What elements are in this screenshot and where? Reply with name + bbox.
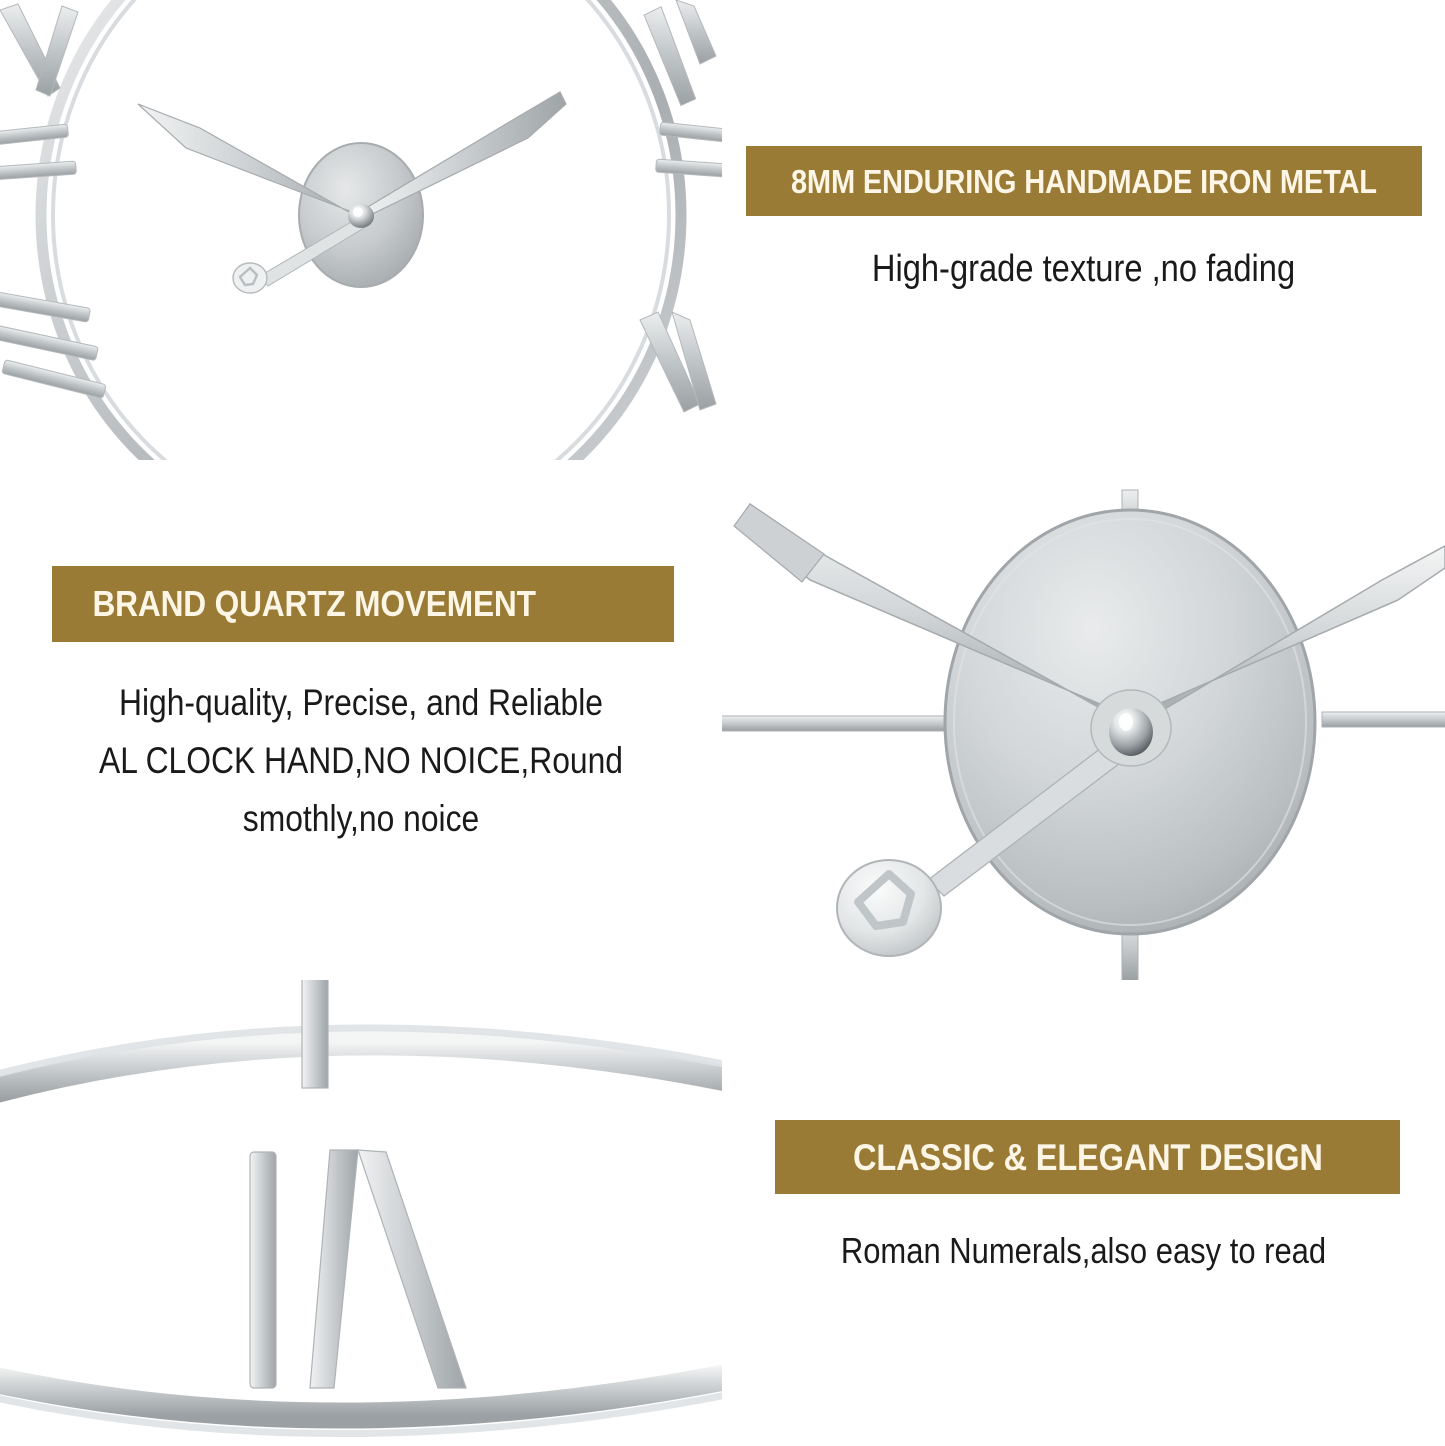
- feature-classic-banner: CLASSIC & ELEGANT DESIGN: [775, 1120, 1400, 1194]
- feature-quartz-banner-text: BRAND QUARTZ MOVEMENT: [52, 586, 536, 622]
- feature-iron-metal: 8MM ENDURING HANDMADE IRON METAL High-gr…: [722, 146, 1445, 291]
- feature-quartz-line-1: High-quality, Precise, and Reliable: [51, 682, 672, 724]
- feature-quartz: BRAND QUARTZ MOVEMENT High-quality, Prec…: [0, 566, 722, 840]
- feature-quartz-line-2: AL CLOCK HAND,NO NOICE,Round: [51, 740, 672, 782]
- feature-quartz-banner: BRAND QUARTZ MOVEMENT: [52, 566, 674, 642]
- feature-iron-metal-banner-text: 8MM ENDURING HANDMADE IRON METAL: [791, 165, 1377, 198]
- rim-spoke: [302, 980, 328, 1088]
- feature-classic-banner-text: CLASSIC & ELEGANT DESIGN: [853, 1139, 1323, 1176]
- photo-hub-closeup: [722, 460, 1445, 980]
- feature-iron-metal-subtext: High-grade texture ,no fading: [773, 248, 1395, 291]
- infographic-page: 8MM ENDURING HANDMADE IRON METAL High-gr…: [0, 0, 1445, 1446]
- feature-classic-subtext: Roman Numerals,also easy to read: [773, 1230, 1395, 1272]
- feature-classic: CLASSIC & ELEGANT DESIGN Roman Numerals,…: [722, 1120, 1445, 1272]
- feature-quartz-line-3: smothly,no noice: [51, 798, 672, 840]
- photo-clock-face: [0, 0, 722, 460]
- feature-iron-metal-banner: 8MM ENDURING HANDMADE IRON METAL: [746, 146, 1422, 216]
- numeral-bar-i: [250, 1152, 276, 1388]
- photo-numeral-rim: [0, 980, 722, 1446]
- arbor-nut-large: [1109, 708, 1153, 756]
